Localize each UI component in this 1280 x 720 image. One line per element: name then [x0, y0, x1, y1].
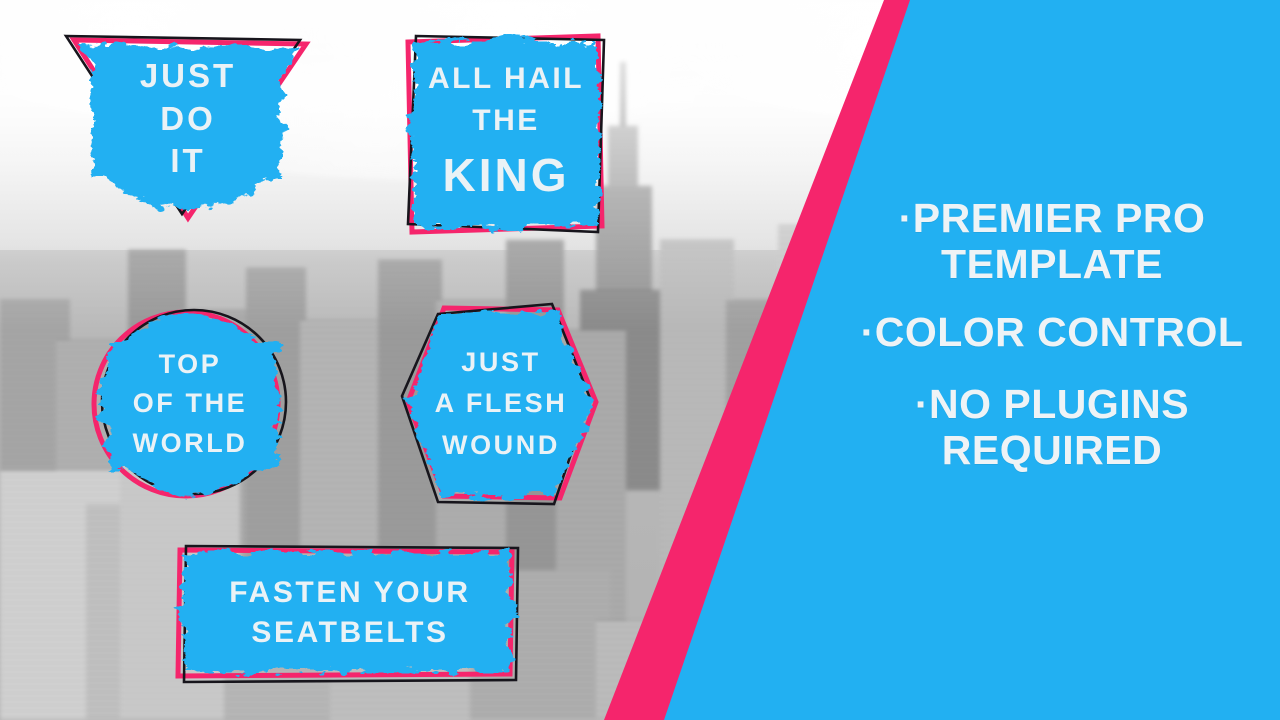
feature-line: ·COLOR CONTROL — [836, 310, 1268, 356]
feature-item-color-control: ·COLOR CONTROL — [836, 310, 1268, 356]
badge-all-hail-the-king: ALL HAIL THE KING — [392, 22, 620, 244]
badge-top-of-the-world: TOP OF THE WORLD — [72, 296, 308, 512]
feature-line: TEMPLATE — [836, 242, 1268, 288]
brush-fill — [78, 44, 300, 212]
brush-fill — [410, 38, 602, 230]
brush-fill — [100, 314, 280, 494]
badge-art-top-of-the-world — [72, 296, 308, 512]
badge-art-just-do-it — [48, 22, 328, 242]
badge-just-do-it: JUST DO IT — [48, 22, 328, 242]
feature-line: REQUIRED — [836, 428, 1268, 474]
feature-item-no-plugins-required: ·NO PLUGINS REQUIRED — [836, 382, 1268, 474]
badge-art-all-hail-the-king — [392, 22, 620, 244]
feature-line: ·NO PLUGINS — [836, 382, 1268, 428]
badge-just-a-flesh-wound: JUST A FLESH WOUND — [382, 296, 620, 512]
brush-fill — [178, 552, 518, 672]
feature-line: ·PREMIER PRO — [836, 196, 1268, 242]
badge-art-just-a-flesh-wound — [382, 296, 620, 512]
brush-fill — [408, 312, 592, 496]
badge-art-fasten-your-seatbelts — [160, 532, 540, 694]
feature-list: ·PREMIER PRO TEMPLATE ·COLOR CONTROL ·NO… — [836, 196, 1268, 496]
promo-slide: ·PREMIER PRO TEMPLATE ·COLOR CONTROL ·NO… — [0, 0, 1280, 720]
badge-fasten-your-seatbelts: FASTEN YOUR SEATBELTS — [160, 532, 540, 694]
feature-item-premier-pro-template: ·PREMIER PRO TEMPLATE — [836, 196, 1268, 288]
